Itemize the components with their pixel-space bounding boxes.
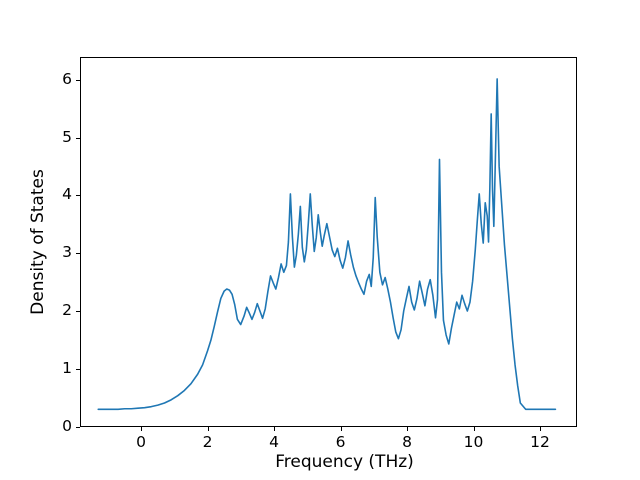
x-tick-label: 4 (269, 433, 279, 451)
x-axis-label: Frequency (THz) (0, 452, 640, 472)
y-tick-label-text: 5 (62, 128, 72, 146)
x-tick-label: 6 (336, 433, 346, 451)
y-tick-label-text: 4 (62, 185, 72, 203)
y-tick-label-text: 3 (62, 243, 72, 261)
y-tick-mark (76, 253, 80, 254)
y-tick-mark (76, 369, 80, 370)
x-tick-mark (341, 427, 342, 431)
y-tick-mark (76, 427, 80, 428)
plot-axes-frame (80, 57, 577, 427)
dos-line-chart (81, 58, 576, 426)
x-axis-label-text: Frequency (THz) (275, 452, 414, 472)
x-tick-label: 8 (402, 433, 412, 451)
x-tick-label: 12 (530, 433, 550, 451)
x-tick-mark (141, 427, 142, 431)
x-tick-mark (208, 427, 209, 431)
y-tick-label-text: 2 (62, 301, 72, 319)
x-tick-mark (540, 427, 541, 431)
y-tick-label-text: 1 (62, 359, 72, 377)
y-tick-mark (76, 195, 80, 196)
x-tick-label: 2 (203, 433, 213, 451)
x-tick-label: 10 (464, 433, 484, 451)
x-tick-label: 0 (136, 433, 146, 451)
x-tick-mark (407, 427, 408, 431)
density-of-states-curve (98, 79, 555, 409)
y-tick-mark (76, 80, 80, 81)
y-tick-mark (76, 138, 80, 139)
y-tick-mark (76, 311, 80, 312)
matplotlib-figure: 024681012 0123456 Frequency (THz) Densit… (0, 0, 640, 480)
y-tick-label-text: 6 (62, 70, 72, 88)
x-tick-mark (474, 427, 475, 431)
y-tick-label-text: 0 (62, 417, 72, 435)
y-axis-label: Density of States (28, 57, 48, 427)
x-tick-mark (274, 427, 275, 431)
